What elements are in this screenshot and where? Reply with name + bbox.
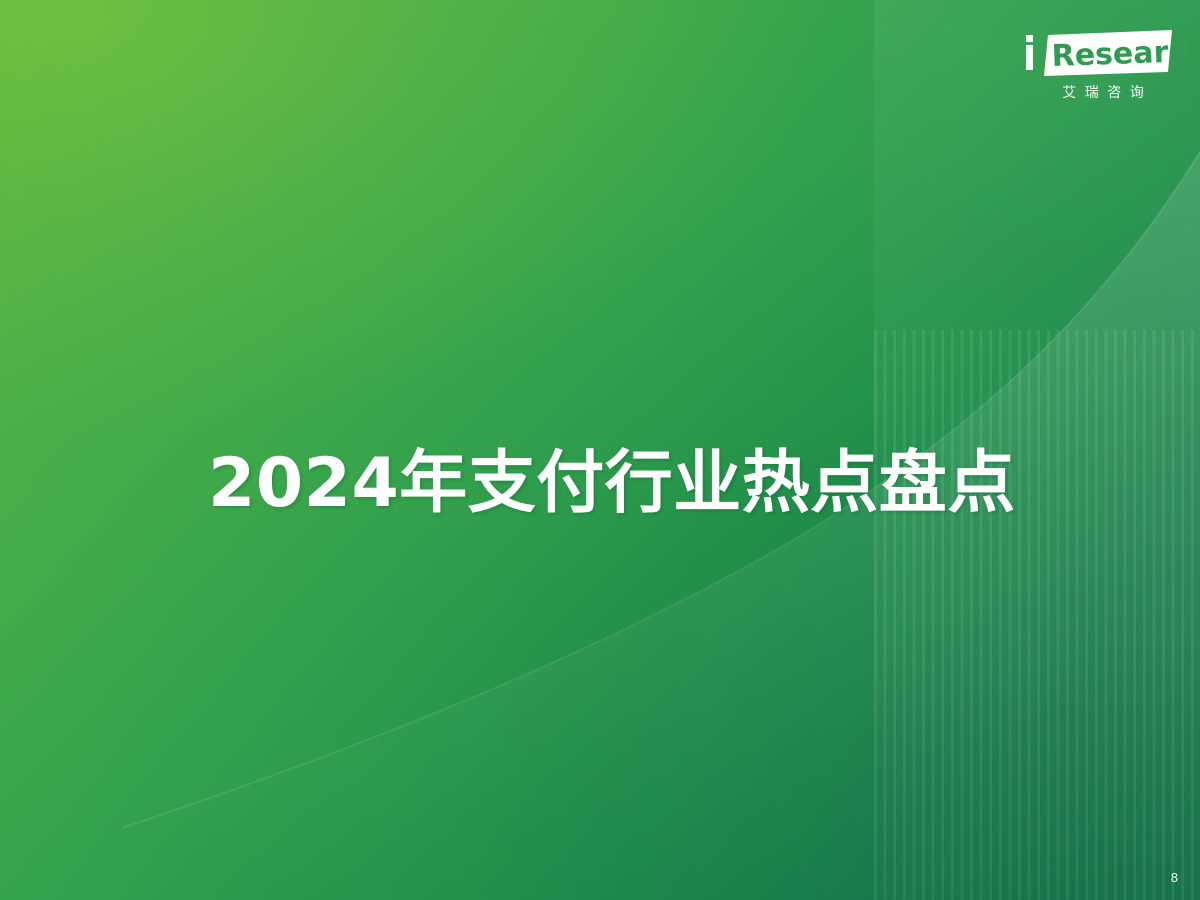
logo-wordmark-group: Research <box>1022 28 1174 80</box>
logo-icon: Research <box>1022 28 1174 80</box>
logo-i-stem <box>1026 45 1033 70</box>
logo-i-dot <box>1026 35 1033 42</box>
logo-chinese-name: 艾瑞咨询 <box>1032 84 1174 102</box>
page-number: 8 <box>1171 870 1178 886</box>
slide-canvas: Research 艾瑞咨询 2024年支付行业热点盘点 8 <box>0 0 1200 900</box>
slide-title: 2024年支付行业热点盘点 <box>208 442 1016 526</box>
logo-research-text: Research <box>1051 34 1200 74</box>
iresearch-logo: Research 艾瑞咨询 <box>1022 28 1174 110</box>
pinstripe-fade-overlay <box>874 330 1200 900</box>
